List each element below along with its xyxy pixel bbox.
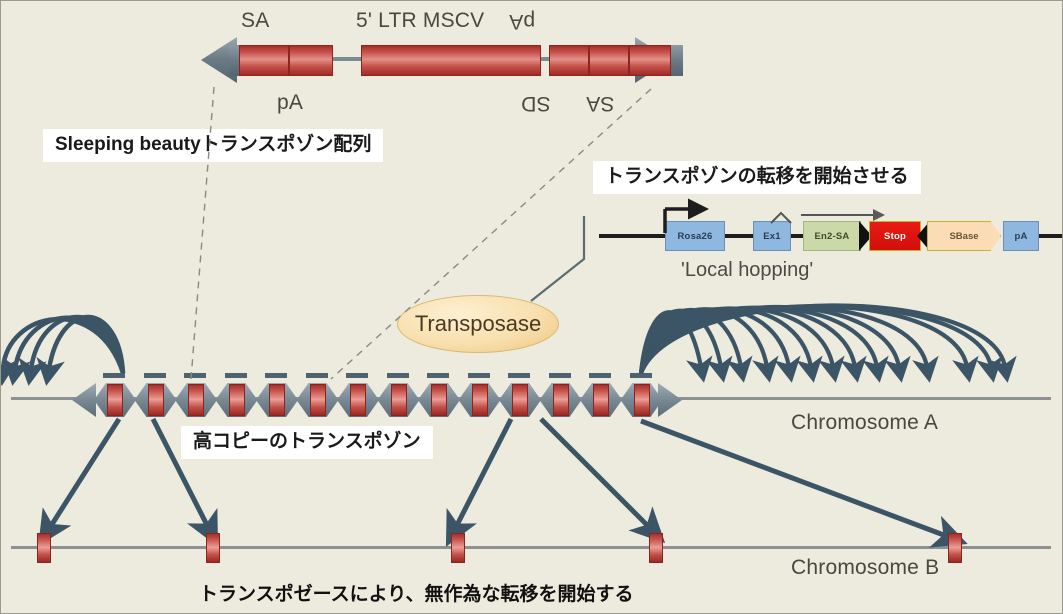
annotation-random-transposition: トランスポゼースにより、無作為な転移を開始する [199, 579, 634, 606]
annotation-high-copy-transposon: 高コピーのトランスポゾン [181, 426, 433, 459]
array-dashed-segment [103, 373, 125, 378]
chromosome-b-insertion-mark [206, 533, 220, 563]
array-dashed-segment [508, 373, 530, 378]
rosa-element-pa: pA [1003, 221, 1039, 251]
rosa-element-sbase: SBase [927, 221, 1001, 251]
label-local-hopping: 'Local hopping' [681, 259, 813, 282]
transposon-unit [580, 383, 622, 417]
transposon-unit-cargo [634, 384, 650, 416]
rosa-line-3 [1039, 234, 1063, 238]
transposase-node: Transposase [397, 295, 559, 353]
label-chromosome-a: Chromosome A [791, 411, 938, 435]
transposon-unit [135, 383, 177, 417]
transposon-unit-cargo [472, 384, 488, 416]
rosa-line-2 [791, 234, 803, 238]
transposon-unit [256, 383, 298, 417]
transposon-unit [297, 383, 339, 417]
cassette-label-ltr: 5' LTR MSCV [356, 9, 484, 33]
array-dashed-segment [265, 373, 287, 378]
transposon-unit-cargo [310, 384, 326, 416]
cassette-label-sa-bottom: SA [586, 91, 614, 115]
rosa-line-upstream [599, 234, 667, 238]
transposon-unit-cargo [188, 384, 204, 416]
transposon-unit-cargo [431, 384, 447, 416]
cassette-label-pa-bottom: pA [277, 91, 303, 115]
array-dashed-segment [630, 373, 652, 378]
transposon-unit [175, 383, 217, 417]
transposon-unit-cargo [553, 384, 569, 416]
transposon-unit-cargo [350, 384, 366, 416]
cassette-segment-ltr-mscv [361, 45, 541, 76]
transposase-connector [531, 216, 584, 301]
rosa-element-ex1: Ex1 [753, 221, 791, 251]
cassette-label-pa-top: pA [509, 9, 535, 33]
transposon-unit [621, 383, 663, 417]
array-dashed-segment [427, 373, 449, 378]
chromosome-b-line [11, 546, 1051, 549]
transposon-unit-cargo [512, 384, 528, 416]
transposon-unit-cargo [391, 384, 407, 416]
rosa-line-1 [725, 234, 753, 238]
array-dashed-segment [589, 373, 611, 378]
transposon-unit [337, 383, 379, 417]
transposon-unit-cargo [229, 384, 245, 416]
array-dashed-segment [144, 373, 166, 378]
transposon-unit-cargo [107, 384, 123, 416]
chromosome-b-insertion-mark [451, 533, 465, 563]
array-dashed-segment [346, 373, 368, 378]
transposon-diagram-figure: SA 5' LTR MSCV pA pA SD SA Sleeping beau… [0, 0, 1063, 614]
transposon-unit [540, 383, 582, 417]
rosa-element-stop: Stop [869, 221, 921, 251]
chromosome-b-insertion-mark [37, 533, 51, 563]
cassette-label-sa-top: SA [241, 9, 269, 33]
cassette-segment-sd [549, 45, 589, 76]
cassette-segment-pa [289, 45, 333, 76]
transposon-unit [216, 383, 258, 417]
annotation-sleeping-beauty: Sleeping beautyトランスポゾン配列 [43, 129, 383, 162]
chromosome-b-insertion-mark [948, 533, 962, 563]
cassette-segment-sa-2 [629, 45, 671, 76]
array-dashed-segment [468, 373, 490, 378]
local-hopping-arcs-left [3, 317, 123, 373]
transposon-unit [94, 383, 136, 417]
transposase-label: Transposase [415, 311, 541, 337]
rosa26-construct: Rosa26 Ex1 En2-SA Stop SBase pA Ex2 [599, 201, 1054, 261]
cassette-segment-pa-2 [589, 45, 629, 76]
transposon-unit [418, 383, 460, 417]
transposon-unit-cargo [148, 384, 164, 416]
sleeping-beauty-cassette [201, 37, 671, 83]
chromosome-b-insertion-mark [649, 533, 663, 563]
cassette-label-sd: SD [521, 91, 551, 115]
cassette-tab-left [229, 45, 239, 76]
local-hopping-arcs-right [641, 305, 1005, 373]
cassette-segment-sa-pa-1 [239, 45, 289, 76]
transposon-unit-cargo [593, 384, 609, 416]
transposon-array [94, 373, 660, 417]
array-dashed-segment [549, 373, 571, 378]
annotation-start-transposition: トランスポゾンの転移を開始させる [593, 161, 921, 194]
rosa-element-rosa26: Rosa26 [665, 221, 725, 251]
cassette-tab-right [671, 45, 683, 76]
array-dashed-segment [184, 373, 206, 378]
array-dashed-segment [225, 373, 247, 378]
transposon-unit [459, 383, 501, 417]
array-dashed-segment [306, 373, 328, 378]
array-left-terminus [72, 383, 96, 417]
rosa-element-en2-sa: En2-SA [803, 221, 861, 251]
transposon-unit-cargo [269, 384, 285, 416]
label-chromosome-b: Chromosome B [791, 556, 939, 580]
transposon-unit [378, 383, 420, 417]
transposon-unit [499, 383, 541, 417]
array-dashed-segment [387, 373, 409, 378]
